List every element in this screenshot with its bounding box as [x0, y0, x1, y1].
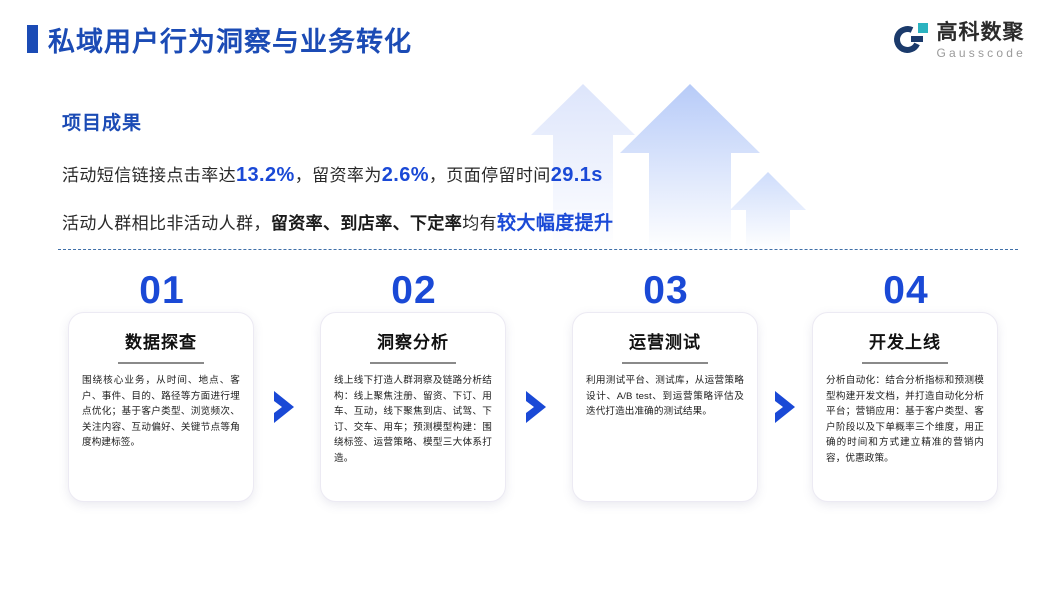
logo-stem-shape	[911, 36, 923, 42]
step-number-2: 02	[321, 271, 507, 310]
step-card-4[interactable]: 04 开发上线 分析自动化：结合分析指标和预测模型构建开发文档，并打造自动化分析…	[812, 312, 998, 502]
results-line-2-bold: 留资率、到店率、下定率	[271, 214, 462, 233]
gausscode-logo-icon	[894, 23, 928, 57]
results-line-2: 活动人群相比非活动人群，留资率、到店率、下定率均有较大幅度提升	[62, 208, 762, 235]
step-title-2: 洞察分析	[321, 328, 505, 353]
logo-square-accent-icon	[918, 23, 928, 33]
step-number-4: 04	[813, 271, 999, 310]
brand-logo: 高科数聚 Gausscode	[894, 18, 1026, 62]
results-line-1-text-3: ，页面停留时间	[429, 166, 551, 185]
section-divider	[58, 249, 1018, 250]
step-body-2: 线上线下打造人群洞察及链路分析结构：线上聚焦注册、留资、下订、用车、互动，线下聚…	[334, 373, 492, 466]
metric-click-rate: 13.2%	[236, 164, 295, 186]
metric-lead-rate: 2.6%	[382, 164, 429, 186]
step-rule-4	[862, 362, 948, 364]
results-heading: 项目成果	[62, 108, 762, 135]
step-rule-2	[370, 362, 456, 364]
chevron-right-icon-3	[772, 390, 798, 424]
step-rule-3	[622, 362, 708, 364]
title-bullet-icon	[27, 25, 38, 53]
chevron-right-icon-2	[523, 390, 549, 424]
slide-root: 私域用户行为洞察与业务转化 高科数聚 Gausscode 项目成果 活动短信链接…	[0, 0, 1048, 591]
logo-name-en: Gausscode	[936, 47, 1026, 59]
step-body-4: 分析自动化：结合分析指标和预测模型构建开发文档，并打造自动化分析平台；营销应用：…	[826, 373, 984, 466]
results-line-1: 活动短信链接点击率达13.2%，留资率为2.6%，页面停留时间29.1s	[62, 161, 762, 187]
step-title-4: 开发上线	[813, 328, 997, 353]
results-line-1-text-1: 活动短信链接点击率达	[62, 166, 236, 185]
slide-header: 私域用户行为洞察与业务转化 高科数聚 Gausscode	[0, 0, 1048, 78]
logo-text: 高科数聚 Gausscode	[936, 22, 1026, 59]
step-title-3: 运营测试	[573, 328, 757, 353]
step-number-1: 01	[69, 271, 255, 310]
results-line-2-text-2: 均有	[462, 214, 497, 233]
logo-name-cn: 高科数聚	[936, 22, 1026, 43]
chevron-right-icon-1	[271, 390, 297, 424]
step-body-3: 利用测试平台、测试库，从运营策略设计、A/B test、到运营策略评估及迭代打造…	[586, 373, 744, 420]
step-card-2[interactable]: 02 洞察分析 线上线下打造人群洞察及链路分析结构：线上聚焦注册、留资、下订、用…	[320, 312, 506, 502]
step-number-3: 03	[573, 271, 759, 310]
results-line-2-highlight: 较大幅度提升	[497, 213, 613, 234]
step-rule-1	[118, 362, 204, 364]
steps-section: 01 数据探查 围绕核心业务，从时间、地点、客户、事件、目的、路径等方面进行埋点…	[0, 272, 1048, 522]
results-line-2-text-1: 活动人群相比非活动人群，	[62, 214, 271, 233]
step-title-1: 数据探查	[69, 328, 253, 353]
results-section: 项目成果 活动短信链接点击率达13.2%，留资率为2.6%，页面停留时间29.1…	[62, 108, 762, 256]
page-title: 私域用户行为洞察与业务转化	[48, 20, 412, 59]
metric-dwell-time: 29.1s	[551, 164, 603, 186]
results-line-1-text-2: ，留资率为	[295, 166, 382, 185]
step-body-1: 围绕核心业务，从时间、地点、客户、事件、目的、路径等方面进行埋点优化；基于客户类…	[82, 373, 240, 451]
step-card-1[interactable]: 01 数据探查 围绕核心业务，从时间、地点、客户、事件、目的、路径等方面进行埋点…	[68, 312, 254, 502]
step-card-3[interactable]: 03 运营测试 利用测试平台、测试库，从运营策略设计、A/B test、到运营策…	[572, 312, 758, 502]
